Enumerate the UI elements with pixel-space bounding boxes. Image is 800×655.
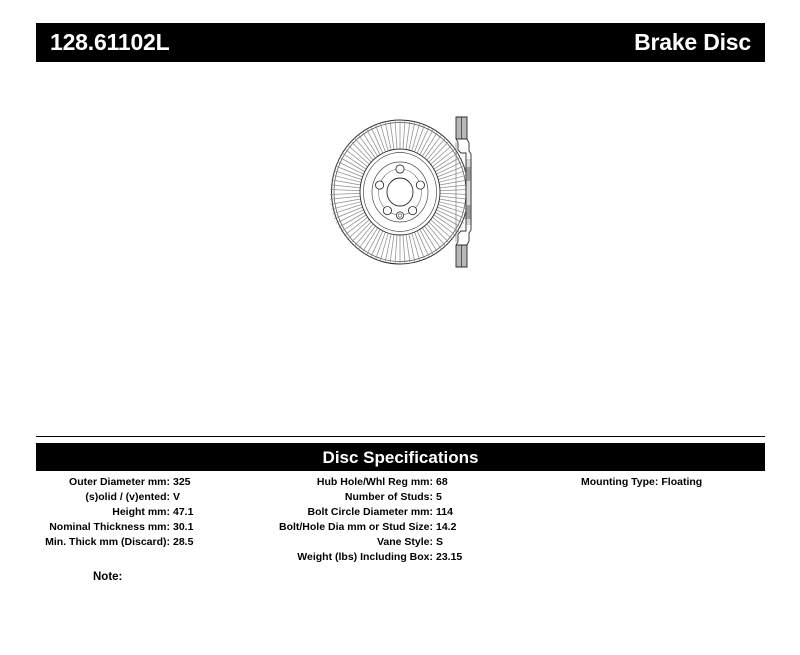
spec-row: Bolt Circle Diameter mm: 114 [276,505,536,520]
spec-value: 14.2 [433,520,536,535]
spec-label: Nominal Thickness mm: [36,520,170,535]
spec-value: 325 [170,475,273,490]
spec-value: 47.1 [170,505,273,520]
spec-label: Number of Studs: [276,490,433,505]
spec-column-dimensions: Outer Diameter mm: 325 (s)olid / (v)ente… [36,475,276,550]
part-number: 128.61102L [50,31,170,54]
note-value [122,570,128,585]
spec-label: Weight (lbs) Including Box: [276,550,433,565]
retaining-screw-hole [396,212,403,219]
note-label: Note: [93,570,122,585]
spec-label: Vane Style: [276,535,433,550]
spec-row: Mounting Type: Floating [536,475,765,490]
spec-row: Nominal Thickness mm: 30.1 [36,520,276,535]
spec-title-bar: Disc Specifications [36,443,765,471]
note-block: Note: [93,570,128,585]
spec-value: V [170,490,273,505]
spec-value: 30.1 [170,520,273,535]
spec-row: Vane Style: S [276,535,536,550]
spec-row: Weight (lbs) Including Box: 23.15 [276,550,536,565]
spec-value: 114 [433,505,536,520]
spec-row: Number of Studs: 5 [276,490,536,505]
spec-row: Bolt/Hole Dia mm or Stud Size: 14.2 [276,520,536,535]
rotor-face-view [329,120,471,264]
spec-label: Min. Thick mm (Discard): [36,535,170,550]
spec-column-mounting: Hub Hole/Whl Reg mm: 68 Number of Studs:… [276,475,536,565]
spec-value: 68 [433,475,536,490]
product-type-label: Brake Disc [634,31,751,54]
spec-label: (s)olid / (v)ented: [36,490,170,505]
spec-column-type: Mounting Type: Floating [536,475,765,490]
spec-label: Height mm: [36,505,170,520]
spec-label: Hub Hole/Whl Reg mm: [276,475,433,490]
spec-value: S [433,535,536,550]
section-divider [36,436,765,437]
spec-value: 5 [433,490,536,505]
spec-row: Hub Hole/Whl Reg mm: 68 [276,475,536,490]
spec-label: Outer Diameter mm: [36,475,170,490]
spec-title: Disc Specifications [323,449,479,466]
spec-value: 28.5 [170,535,273,550]
spec-row: Outer Diameter mm: 325 [36,475,276,490]
spec-columns: Outer Diameter mm: 325 (s)olid / (v)ente… [36,475,765,575]
spec-label: Bolt/Hole Dia mm or Stud Size: [276,520,433,535]
spec-label: Mounting Type: [581,475,658,490]
spec-value: 23.15 [433,550,536,565]
product-drawing [270,95,530,285]
spec-value: Floating [658,475,702,490]
spec-row: (s)olid / (v)ented: V [36,490,276,505]
spec-row: Min. Thick mm (Discard): 28.5 [36,535,276,550]
spec-row: Height mm: 47.1 [36,505,276,520]
hub-hole [387,178,413,206]
header-bar: 128.61102L Brake Disc [36,23,765,62]
spec-label: Bolt Circle Diameter mm: [276,505,433,520]
